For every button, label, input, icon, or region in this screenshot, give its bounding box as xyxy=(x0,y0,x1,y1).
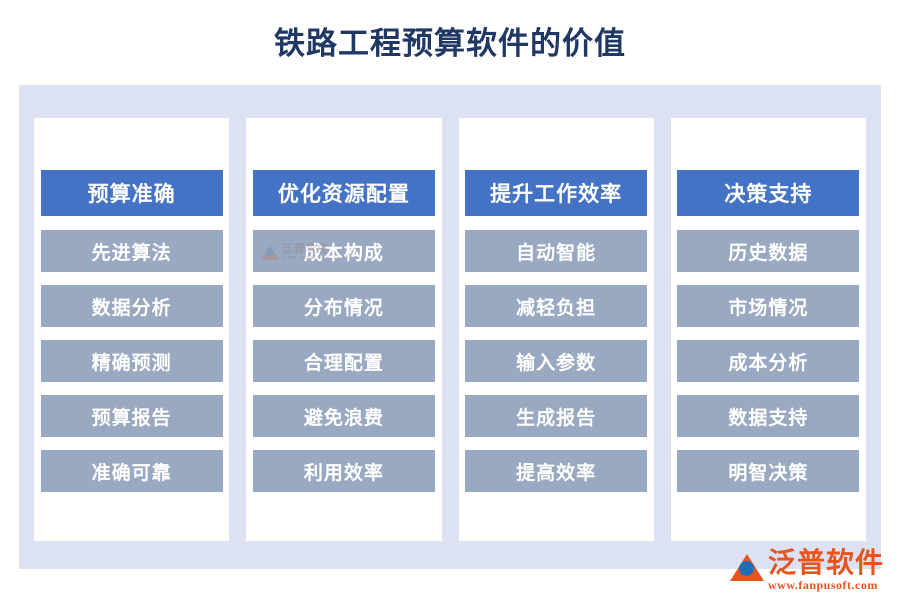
item-label: 明智决策 xyxy=(728,458,808,485)
item-label: 成本构成 xyxy=(304,238,384,265)
column-items-2: 泛普软件 www.fanpusoft.com 成本构成 分布情况 合理配置 避免… xyxy=(246,230,441,492)
list-item[interactable]: 合理配置 xyxy=(253,340,435,382)
value-column-2: 优化资源配置 泛普软件 www.fanpusoft.com 成本构成 分布情况 … xyxy=(246,118,441,541)
brand-texts: 泛普软件 www.fanpusoft.com xyxy=(768,548,884,592)
column-items-1: 先进算法 数据分析 精确预测 预算报告 准确可靠 xyxy=(34,230,229,492)
list-item[interactable]: 避免浪费 xyxy=(253,395,435,437)
value-column-4: 决策支持 历史数据 市场情况 成本分析 数据支持 明智决策 xyxy=(671,118,866,541)
page-title: 铁路工程预算软件的价值 xyxy=(0,24,900,64)
list-item[interactable]: 明智决策 xyxy=(677,450,859,492)
column-items-3: 自动智能 减轻负担 输入参数 生成报告 提高效率 xyxy=(459,230,654,492)
list-item[interactable]: 预算报告 xyxy=(41,395,223,437)
list-item[interactable]: 数据支持 xyxy=(677,395,859,437)
list-item[interactable]: 生成报告 xyxy=(465,395,647,437)
list-item[interactable]: 自动智能 xyxy=(465,230,647,272)
value-columns: 预算准确 先进算法 数据分析 精确预测 预算报告 准确可靠 优化资源配置 泛普软… xyxy=(34,118,866,541)
column-header-2[interactable]: 优化资源配置 xyxy=(253,170,435,216)
value-column-3: 提升工作效率 自动智能 减轻负担 输入参数 生成报告 提高效率 xyxy=(459,118,654,541)
list-item[interactable]: 历史数据 xyxy=(677,230,859,272)
item-label: 精确预测 xyxy=(92,348,172,375)
brand-url: www.fanpusoft.com xyxy=(768,578,878,592)
item-label: 历史数据 xyxy=(728,238,808,265)
list-item[interactable]: 成本分析 xyxy=(677,340,859,382)
item-label: 数据分析 xyxy=(92,293,172,320)
list-item[interactable]: 分布情况 xyxy=(253,285,435,327)
item-label: 提高效率 xyxy=(516,458,596,485)
column-header-4[interactable]: 决策支持 xyxy=(677,170,859,216)
fanpu-brand-logo[interactable]: 泛普软件 www.fanpusoft.com xyxy=(730,548,884,592)
list-item[interactable]: 先进算法 xyxy=(41,230,223,272)
list-item[interactable]: 数据分析 xyxy=(41,285,223,327)
item-label: 输入参数 xyxy=(516,348,596,375)
value-column-1: 预算准确 先进算法 数据分析 精确预测 预算报告 准确可靠 xyxy=(34,118,229,541)
list-item[interactable]: 提高效率 xyxy=(465,450,647,492)
column-items-4: 历史数据 市场情况 成本分析 数据支持 明智决策 xyxy=(671,230,866,492)
item-label: 成本分析 xyxy=(728,348,808,375)
item-label: 利用效率 xyxy=(304,458,384,485)
brand-name: 泛普软件 xyxy=(768,548,884,578)
item-label: 减轻负担 xyxy=(516,293,596,320)
item-label: 预算报告 xyxy=(92,403,172,430)
list-item[interactable]: 输入参数 xyxy=(465,340,647,382)
item-label: 生成报告 xyxy=(516,403,596,430)
list-item[interactable]: 市场情况 xyxy=(677,285,859,327)
list-item[interactable]: 精确预测 xyxy=(41,340,223,382)
column-header-1[interactable]: 预算准确 xyxy=(41,170,223,216)
item-label: 分布情况 xyxy=(304,293,384,320)
item-label: 自动智能 xyxy=(516,238,596,265)
item-label: 市场情况 xyxy=(728,293,808,320)
list-item[interactable]: 准确可靠 xyxy=(41,450,223,492)
item-label: 避免浪费 xyxy=(304,403,384,430)
item-label: 准确可靠 xyxy=(92,458,172,485)
list-item[interactable]: 利用效率 xyxy=(253,450,435,492)
item-label: 合理配置 xyxy=(304,348,384,375)
list-item[interactable]: 减轻负担 xyxy=(465,285,647,327)
item-label: 数据支持 xyxy=(728,403,808,430)
column-header-3[interactable]: 提升工作效率 xyxy=(465,170,647,216)
item-label: 先进算法 xyxy=(92,238,172,265)
list-item[interactable]: 泛普软件 www.fanpusoft.com 成本构成 xyxy=(253,230,435,272)
fanpu-logo-mark-icon xyxy=(261,243,279,261)
fanpu-logo-mark-icon xyxy=(730,551,764,583)
